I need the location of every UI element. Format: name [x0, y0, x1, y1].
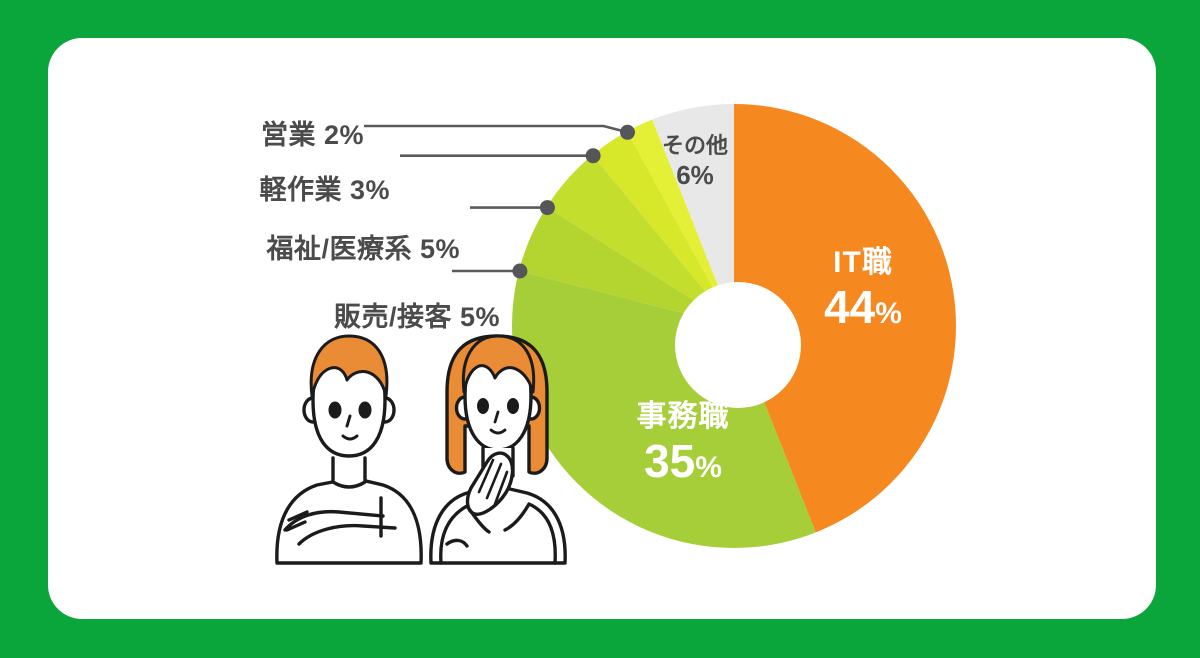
callout-label-keisagyo: 軽作業 3%	[259, 168, 390, 207]
leader-dot	[512, 264, 527, 279]
leader-line	[364, 126, 628, 132]
callout-label-fukushi: 福祉/医療系 5%	[266, 227, 460, 266]
slice-label-it-value: 44%	[768, 282, 958, 334]
slice-label-it-number: 44	[824, 281, 875, 333]
slice-label-other-value: 6%	[640, 160, 750, 191]
people-illustration	[255, 330, 585, 565]
slice-label-jimu-value: 35%	[588, 436, 778, 488]
leader-dot	[620, 125, 635, 140]
slice-label-jimu-symbol: %	[695, 451, 722, 484]
slice-label-it-name: IT職	[768, 246, 958, 280]
person-left-man	[277, 336, 421, 563]
slice-label-jimu: 事務職 35%	[588, 400, 778, 487]
person-right-woman	[431, 336, 565, 563]
slice-label-other: その他 6%	[640, 133, 750, 192]
donut-chart-svg	[0, 0, 1200, 658]
donut-chart: 営業 2% 軽作業 3% 福祉/医療系 5% 販売/接客 5% IT職 44% …	[0, 0, 1200, 658]
slice-label-it: IT職 44%	[768, 246, 958, 333]
slice-label-jimu-name: 事務職	[588, 400, 778, 434]
slice-label-it-symbol: %	[875, 297, 902, 330]
screenshot-root: 営業 2% 軽作業 3% 福祉/医療系 5% 販売/接客 5% IT職 44% …	[0, 0, 1200, 658]
slice-label-jimu-number: 35	[644, 435, 695, 487]
callout-label-hanbai: 販売/接客 5%	[334, 295, 500, 334]
callout-label-eigyou: 営業 2%	[261, 113, 364, 152]
leader-dot	[540, 200, 555, 215]
slice-label-other-name: その他	[640, 133, 750, 159]
leader-dot	[586, 148, 601, 163]
